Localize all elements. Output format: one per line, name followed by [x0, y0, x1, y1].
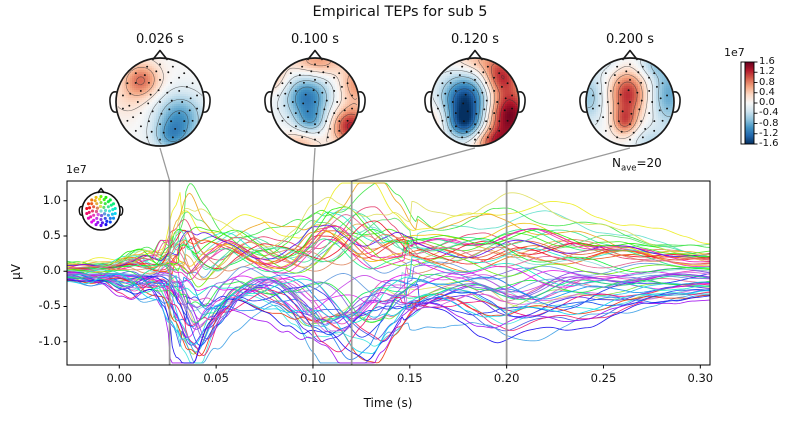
- sensor-dot: [192, 82, 194, 84]
- sensor-dot: [144, 74, 146, 76]
- sensor-dot: [306, 131, 308, 133]
- sensor-dot: [172, 66, 174, 68]
- sensor-dot: [290, 72, 292, 74]
- sensor-dot: [465, 94, 467, 96]
- sensor-dot: [303, 82, 305, 84]
- sensor-dot: [452, 101, 454, 103]
- sensor-dot: [498, 130, 500, 132]
- sensor-dot: [299, 74, 301, 76]
- sensor-dot: [281, 82, 283, 84]
- sensor-dot: [163, 132, 165, 134]
- sensor-dot: [307, 110, 309, 112]
- sensor-dot: [347, 120, 349, 122]
- sensor-dot: [281, 120, 283, 122]
- sensor-dot: [478, 132, 480, 134]
- sensor-dot: [129, 93, 131, 95]
- sensor-dot: [302, 102, 304, 104]
- sensor-dot: [178, 112, 180, 114]
- sensor-dot: [159, 101, 161, 103]
- sensor-dot: [341, 86, 343, 88]
- sensor-dot: [122, 108, 124, 110]
- sensor-dot: [159, 139, 161, 141]
- sensor-dot: [159, 79, 161, 81]
- sensor-dot: [461, 66, 463, 68]
- sensor-dot: [148, 120, 150, 122]
- sensor-dot: [475, 113, 477, 115]
- sensor-dot: [489, 128, 491, 130]
- sensor-dot: [493, 112, 495, 114]
- sensor-dot: [148, 82, 150, 84]
- sensor-dot: [326, 100, 328, 102]
- sensor-dot: [474, 139, 476, 141]
- sensor-dot: [186, 86, 188, 88]
- topomap-label-1: 0.100 s: [265, 32, 365, 47]
- sensor-dot: [333, 112, 335, 114]
- xaxis-label: Time (s): [318, 396, 458, 410]
- sensor-dot: [487, 66, 489, 68]
- n-ave-value: =20: [636, 156, 661, 170]
- sensor-dot: [305, 94, 307, 96]
- sensor-dot: [487, 136, 489, 138]
- sensor-dot: [441, 120, 443, 122]
- sensor-dot: [505, 97, 507, 99]
- sensor-dot: [183, 130, 185, 132]
- n-ave-letter: N: [612, 156, 621, 170]
- sensor-dot: [473, 89, 475, 91]
- page-title: Empirical TEPs for sub 5: [0, 4, 800, 20]
- sensor-dot: [301, 66, 303, 68]
- sensor-dot: [128, 105, 130, 107]
- colorbar-offset-text: 1e7: [724, 46, 745, 59]
- sensor-dot: [135, 82, 137, 84]
- sensor-dot: [493, 77, 495, 79]
- sensor-dot: [155, 70, 157, 72]
- sensor-dot: [132, 116, 134, 118]
- sensor-dot: [190, 97, 192, 99]
- sensor-dot: [159, 63, 161, 65]
- sensor-dot: [171, 100, 173, 102]
- sensor-dot: [437, 95, 439, 97]
- sensor-dot: [159, 123, 161, 125]
- sensor-dot: [167, 71, 169, 73]
- sensor-dot: [461, 136, 463, 138]
- sensor-dot: [318, 132, 320, 134]
- sensor-dot: [140, 112, 142, 114]
- sensor-dot: [496, 101, 498, 103]
- sensor-dot: [459, 74, 461, 76]
- sensor-dot: [146, 136, 148, 138]
- sensor-dot: [483, 108, 485, 110]
- sensor-dot: [170, 82, 172, 84]
- sensor-dot: [344, 109, 346, 111]
- sensor-dot: [292, 101, 294, 103]
- sensor-dot: [325, 120, 327, 122]
- sensor-dot: [481, 92, 483, 94]
- sensor-dot: [314, 123, 316, 125]
- sensor-dot: [336, 101, 338, 103]
- sensor-dot: [485, 82, 487, 84]
- sensor-dot: [511, 108, 513, 110]
- sensor-dot: [137, 101, 139, 103]
- sensor-dot: [329, 128, 331, 130]
- sensor-dot: [466, 131, 468, 133]
- sensor-dot: [338, 72, 340, 74]
- sensor-dot: [192, 120, 194, 122]
- sensor-dot: [313, 89, 315, 91]
- sensor-dot: [498, 120, 500, 122]
- sensor-dot: [474, 123, 476, 125]
- n-ave-annotation: Nave=20: [612, 156, 662, 173]
- sensor-dot: [507, 120, 509, 122]
- sensor-dot: [126, 120, 128, 122]
- sensor-dot: [287, 116, 289, 118]
- sensor-dot: [463, 82, 465, 84]
- sensor-dot: [322, 71, 324, 73]
- sensor-dot: [333, 77, 335, 79]
- sensor-dot: [325, 82, 327, 84]
- sensor-dot: [189, 109, 191, 111]
- sensor-dot: [126, 82, 128, 84]
- topomap-2: [425, 51, 525, 147]
- topomap-3: [580, 51, 680, 147]
- sensor-dot: [158, 89, 160, 91]
- sensor-dot: [351, 95, 353, 97]
- topomap-label-0: 0.026 s: [110, 32, 210, 47]
- sensor-dot: [122, 95, 124, 97]
- sensor-dot: [486, 100, 488, 102]
- sensor-dot: [295, 125, 297, 127]
- sensor-dot: [283, 105, 285, 107]
- sensor-dot: [172, 136, 174, 138]
- sensor-dot: [437, 108, 439, 110]
- sensor-dot: [462, 102, 464, 104]
- sensor-dot: [470, 70, 472, 72]
- sensor-dot: [455, 125, 457, 127]
- topomap-label-3: 0.200 s: [580, 32, 680, 47]
- sensor-dot: [196, 108, 198, 110]
- topomap-1: [265, 51, 365, 147]
- sensor-dot: [323, 108, 325, 110]
- topomap-0: [110, 51, 210, 147]
- sensor-dot: [327, 66, 329, 68]
- sensor-dot: [447, 116, 449, 118]
- sensor-dot: [178, 90, 180, 92]
- sensor-dot: [303, 120, 305, 122]
- sensor-dot: [151, 131, 153, 133]
- sensor-dot: [146, 66, 148, 68]
- sensor-dot: [474, 101, 476, 103]
- sensor-dot: [295, 112, 297, 114]
- sensor-dot: [150, 94, 152, 96]
- sensor-dot: [450, 82, 452, 84]
- sensor-dot: [295, 90, 297, 92]
- n-ave-subscript: ave: [621, 163, 636, 173]
- sensor-dot: [183, 72, 185, 74]
- sensor-dot: [450, 130, 452, 132]
- figure-svg: [0, 0, 800, 420]
- sensor-dot: [301, 136, 303, 138]
- sensor-dot: [196, 95, 198, 97]
- sensor-dot: [314, 63, 316, 65]
- sensor-dot: [493, 90, 495, 92]
- sensor-dot: [284, 93, 286, 95]
- sensor-dot: [504, 109, 506, 111]
- sensor-dot: [310, 70, 312, 72]
- sensor-dot: [347, 82, 349, 84]
- sensor-dot: [147, 102, 149, 104]
- sensor-dot: [314, 139, 316, 141]
- sensor-dot: [140, 125, 142, 127]
- sensor-dot: [277, 95, 279, 97]
- sensor-dot: [168, 108, 170, 110]
- sensor-dot: [507, 82, 509, 84]
- sensor-dot: [170, 120, 172, 122]
- sensor-dot: [174, 128, 176, 130]
- sensor-dot: [314, 79, 316, 81]
- sensor-dot: [474, 63, 476, 65]
- sensor-dot: [482, 71, 484, 73]
- sensor-dot: [178, 77, 180, 79]
- sensor-dot: [181, 101, 183, 103]
- sensor-dot: [166, 92, 168, 94]
- sensor-dot: [314, 101, 316, 103]
- sensor-dot: [140, 90, 142, 92]
- sensor-dot: [444, 93, 446, 95]
- sensor-dot: [290, 82, 292, 84]
- sensor-dot: [351, 108, 353, 110]
- sensor-dot: [333, 90, 335, 92]
- sensor-dot: [455, 112, 457, 114]
- sensor-dot: [463, 120, 465, 122]
- sensor-dot: [135, 72, 137, 74]
- sensor-dot: [152, 110, 154, 112]
- sensor-dot: [338, 120, 340, 122]
- sensor-dot: [450, 72, 452, 74]
- topomap-label-2: 0.120 s: [425, 32, 525, 47]
- sensor-dot: [441, 82, 443, 84]
- sensor-dot: [455, 90, 457, 92]
- sensor-dot: [485, 120, 487, 122]
- sensor-dot: [443, 105, 445, 107]
- sensor-dot: [501, 86, 503, 88]
- sensor-dot: [277, 108, 279, 110]
- sensor-dot: [160, 113, 162, 115]
- yaxis-offset-text: 1e7: [66, 163, 87, 176]
- sensor-dot: [338, 130, 340, 132]
- sensor-dot: [467, 110, 469, 112]
- sensor-dot: [498, 72, 500, 74]
- sensor-dot: [511, 95, 513, 97]
- sensor-dot: [183, 120, 185, 122]
- figure-canvas: Empirical TEPs for sub 5 0.026 s 0.100 s…: [0, 0, 800, 420]
- sensor-dot: [327, 136, 329, 138]
- sensor-dot: [135, 130, 137, 132]
- sensor-dot: [345, 97, 347, 99]
- sensor-dot: [321, 92, 323, 94]
- sensor-dot: [290, 130, 292, 132]
- sensor-dot: [474, 79, 476, 81]
- sensor-dot: [315, 113, 317, 115]
